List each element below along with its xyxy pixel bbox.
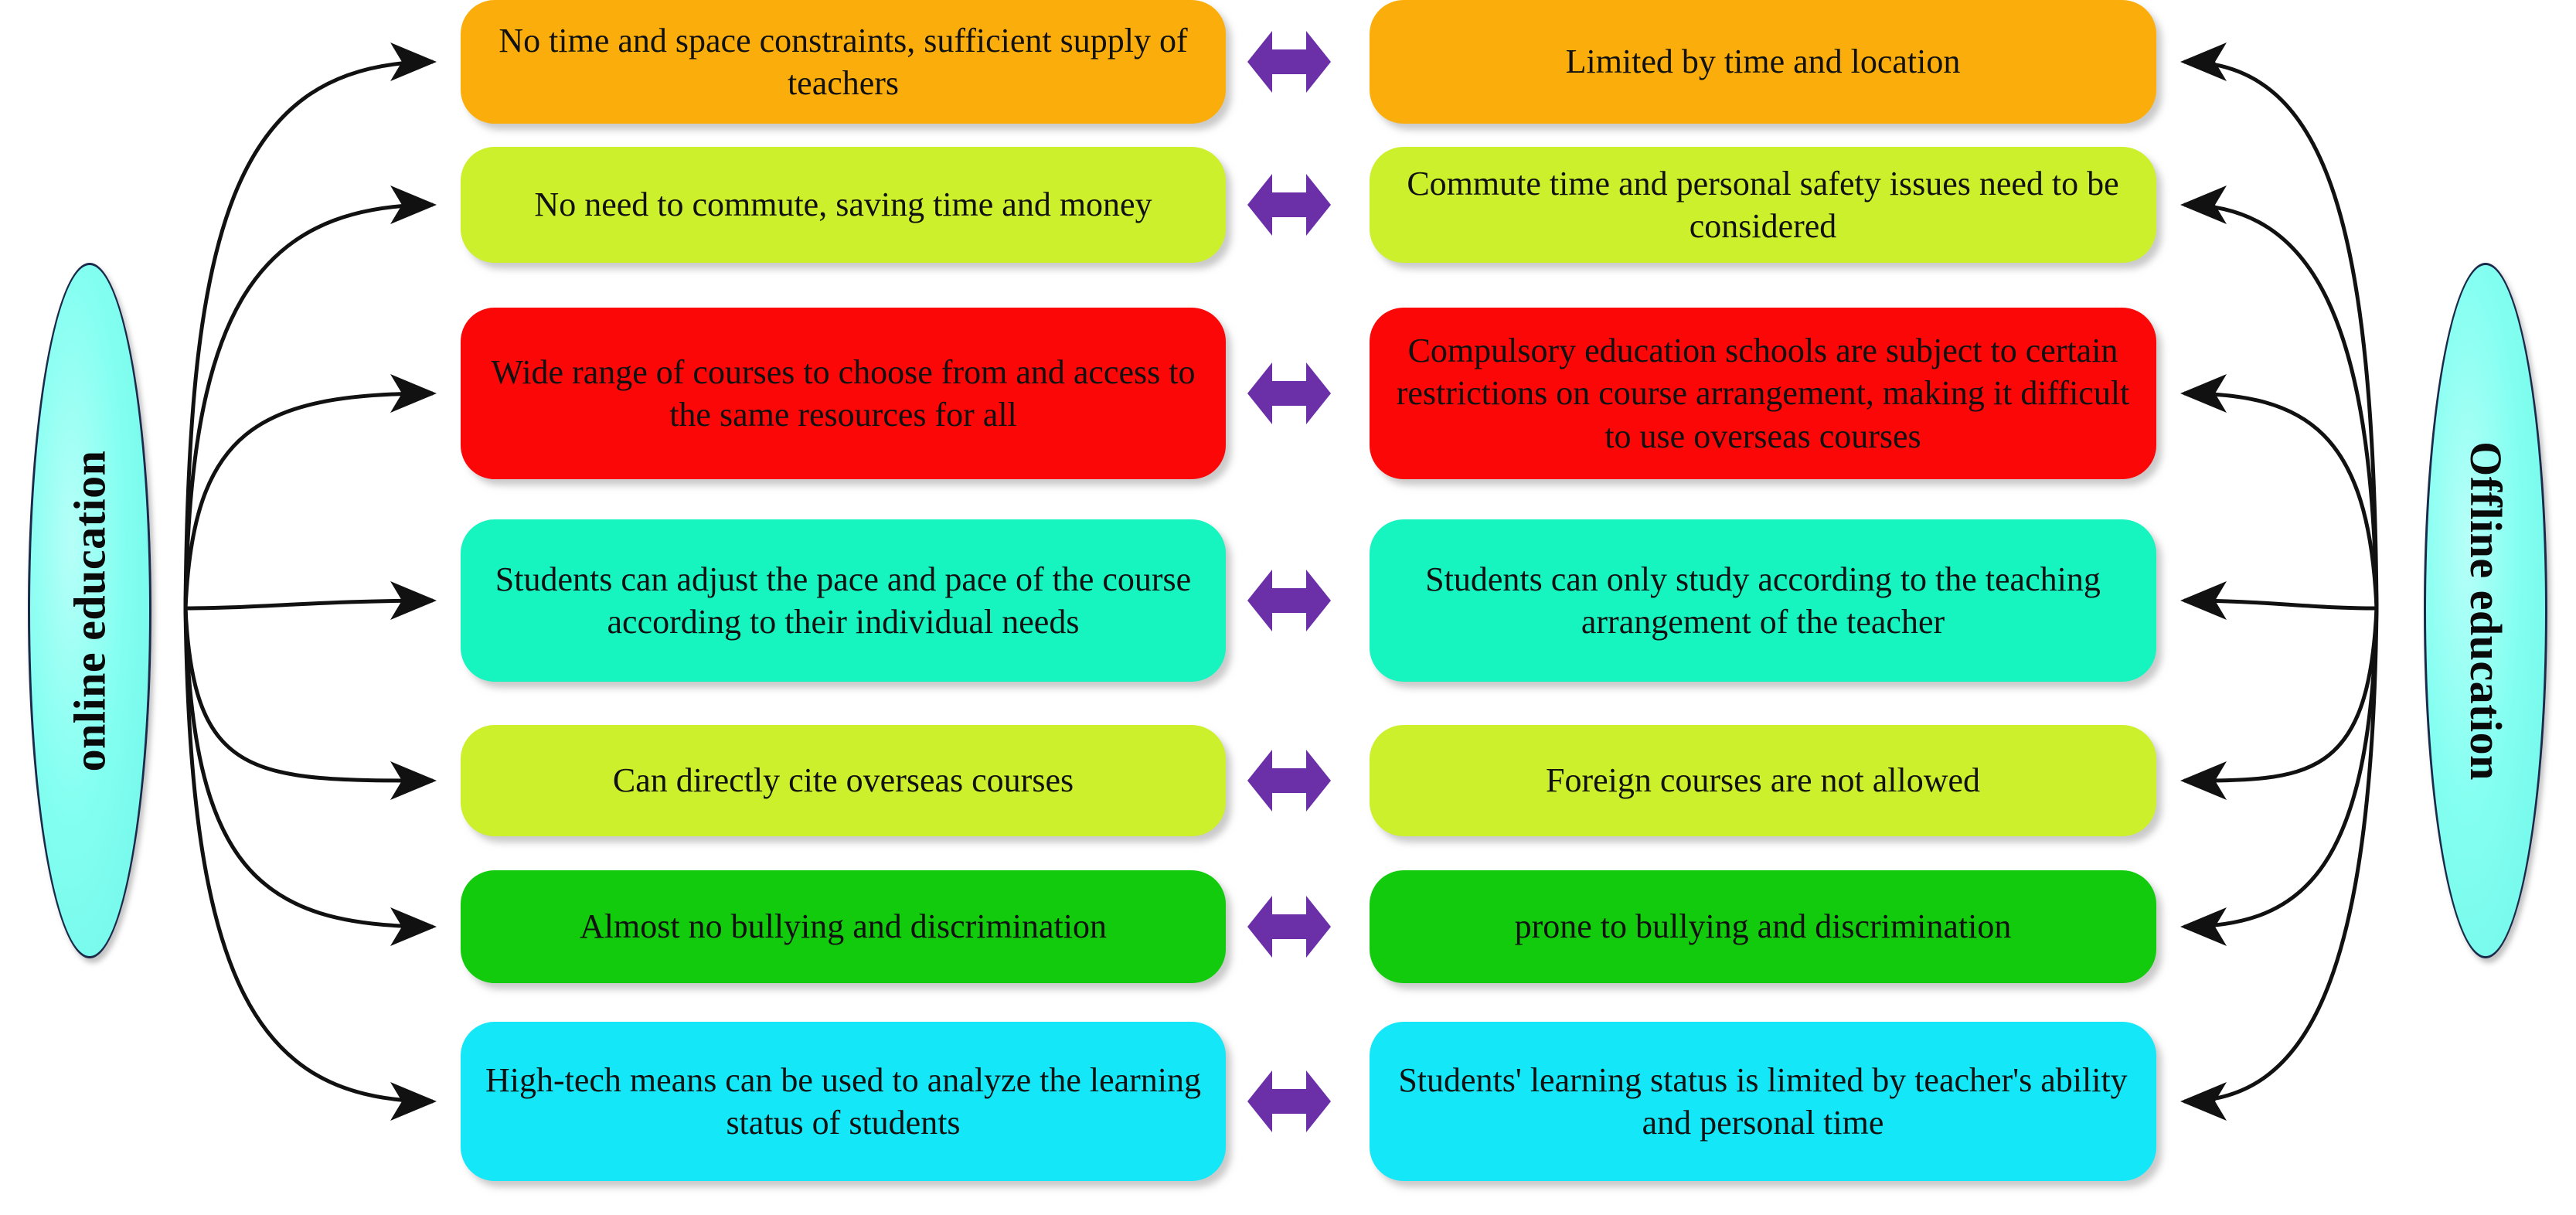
comparison-row: Students can adjust the pace and pace of…	[0, 519, 2576, 682]
online-advantage-pill[interactable]: Can directly cite overseas courses	[461, 725, 1226, 836]
offline-education-label: Offline education	[2460, 441, 2512, 781]
comparison-row: Can directly cite overseas coursesForeig…	[0, 725, 2576, 836]
double-headed-arrow-icon	[1247, 567, 1331, 635]
online-advantage-pill[interactable]: No need to commute, saving time and mone…	[461, 147, 1226, 263]
online-advantage-text: Almost no bullying and discrimination	[580, 905, 1107, 948]
double-headed-arrow-icon	[1247, 1067, 1331, 1135]
offline-limitation-pill[interactable]: Commute time and personal safety issues …	[1370, 147, 2156, 263]
double-headed-arrow-icon	[1247, 893, 1331, 961]
online-advantage-text: High-tech means can be used to analyze t…	[481, 1059, 1206, 1145]
online-education-label: online education	[64, 450, 116, 771]
offline-education-node[interactable]: Offline education	[2424, 263, 2547, 958]
comparison-row: No time and space constraints, sufficien…	[0, 0, 2576, 124]
double-headed-arrow-icon	[1247, 171, 1331, 239]
double-headed-arrow-icon	[1247, 747, 1331, 815]
online-advantage-text: No need to commute, saving time and mone…	[534, 183, 1152, 226]
offline-limitation-pill[interactable]: prone to bullying and discrimination	[1370, 870, 2156, 983]
offline-limitation-text: Limited by time and location	[1566, 40, 1961, 83]
online-advantage-pill[interactable]: Students can adjust the pace and pace of…	[461, 519, 1226, 682]
double-headed-arrow-icon	[1247, 28, 1331, 96]
offline-limitation-pill[interactable]: Compulsory education schools are subject…	[1370, 308, 2156, 479]
offline-limitation-text: prone to bullying and discrimination	[1515, 905, 2012, 948]
online-advantage-pill[interactable]: No time and space constraints, sufficien…	[461, 0, 1226, 124]
online-advantage-pill[interactable]: Almost no bullying and discrimination	[461, 870, 1226, 983]
offline-limitation-pill[interactable]: Students' learning status is limited by …	[1370, 1022, 2156, 1181]
comparison-row: No need to commute, saving time and mone…	[0, 147, 2576, 263]
comparison-row: High-tech means can be used to analyze t…	[0, 1022, 2576, 1181]
online-advantage-text: Can directly cite overseas courses	[613, 759, 1074, 801]
online-education-node[interactable]: online education	[28, 263, 151, 958]
offline-limitation-text: Students' learning status is limited by …	[1390, 1059, 2136, 1145]
offline-limitation-text: Compulsory education schools are subject…	[1390, 329, 2136, 458]
offline-limitation-text: Foreign courses are not allowed	[1546, 759, 1980, 801]
offline-limitation-pill[interactable]: Limited by time and location	[1370, 0, 2156, 124]
online-advantage-text: Students can adjust the pace and pace of…	[481, 558, 1206, 644]
online-advantage-text: Wide range of courses to choose from and…	[481, 351, 1206, 437]
online-advantage-text: No time and space constraints, sufficien…	[481, 19, 1206, 105]
offline-limitation-pill[interactable]: Foreign courses are not allowed	[1370, 725, 2156, 836]
offline-limitation-pill[interactable]: Students can only study according to the…	[1370, 519, 2156, 682]
double-headed-arrow-icon	[1247, 359, 1331, 427]
comparison-row: Wide range of courses to choose from and…	[0, 308, 2576, 479]
offline-limitation-text: Students can only study according to the…	[1390, 558, 2136, 644]
diagram-canvas: online education Offline education No ti…	[0, 0, 2576, 1215]
online-advantage-pill[interactable]: High-tech means can be used to analyze t…	[461, 1022, 1226, 1181]
online-advantage-pill[interactable]: Wide range of courses to choose from and…	[461, 308, 1226, 479]
comparison-row: Almost no bullying and discriminationpro…	[0, 870, 2576, 983]
offline-limitation-text: Commute time and personal safety issues …	[1390, 162, 2136, 248]
